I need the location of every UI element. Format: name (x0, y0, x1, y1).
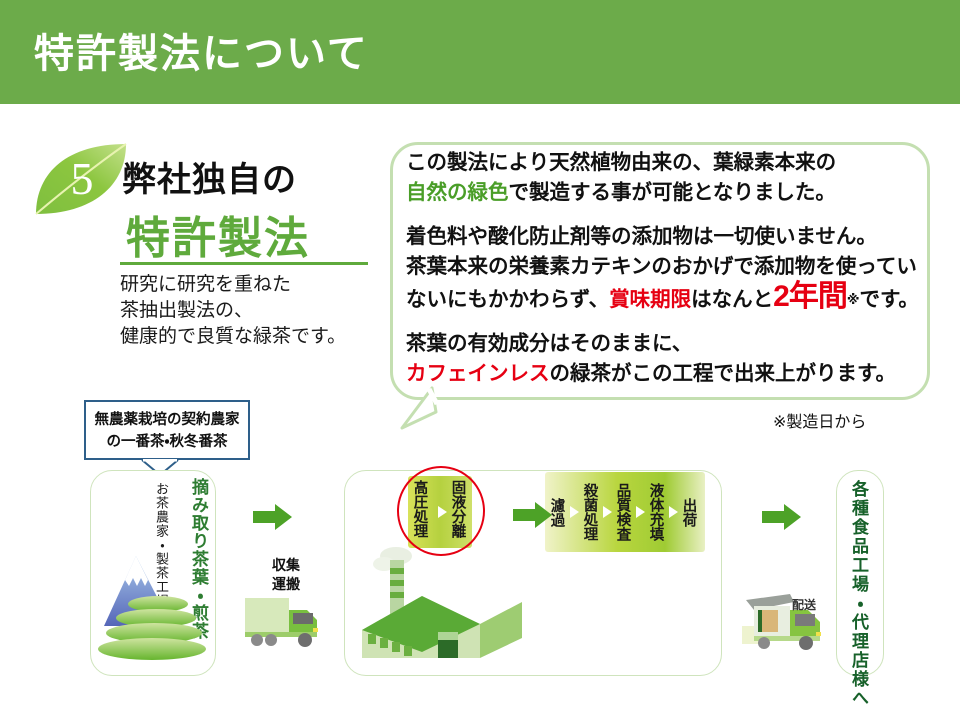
desc-p2-highlight-two-years: 2年間 (773, 280, 847, 313)
destination-label: 各種食品工場・代理店様へ (846, 480, 871, 708)
headline-line-2: 特許製法 (126, 202, 310, 266)
bubble-tail (396, 386, 440, 430)
farm-callout-line-1: 無農薬栽培の契約農家 (86, 409, 248, 431)
description-paragraph-3: 茶葉の有効成分はそのままに、 カフェインレスの緑茶がこの工程で出来上がります。 (406, 329, 926, 389)
desc-p2-line-3-c: です。 (859, 288, 918, 311)
process-step-sterilization: 殺菌処理 (582, 483, 597, 541)
collection-truck-illustration (243, 588, 329, 656)
flow-arrow-3-icon (762, 502, 802, 532)
headline-line-1: 弊社独自の (122, 152, 297, 201)
page-title: 特許製法について (34, 34, 369, 74)
leaf-badge-number: 5 (60, 148, 104, 210)
factory-illustration (352, 538, 532, 670)
transport-label-line-1: 収集 (272, 556, 300, 575)
mount-fuji-tea-field-illustration (96, 548, 212, 668)
process-triangle-4-icon (636, 506, 645, 518)
process-triangle-5-icon (669, 506, 678, 518)
desc-p2-highlight-expiry: 賞味期限 (609, 288, 691, 311)
desc-p1-highlight-green: 自然の緑色 (406, 181, 509, 204)
desc-p2-line-2: 茶葉本来の栄養素カテキンのおかげで添加物を使ってい (406, 255, 917, 278)
leaf-badge: 5 (34, 142, 130, 218)
headline-subtitle: 研究に研究を重ねた 茶抽出製法の、 健康的で良質な緑茶です。 (120, 272, 346, 350)
process-triangle-3-icon (603, 506, 612, 518)
headline-subtitle-line-3: 健康的で良質な緑茶です。 (120, 324, 346, 350)
desc-p3-line-2: の緑茶がこの工程で出来上がります。 (550, 362, 896, 385)
delivery-truck-illustration (740, 580, 832, 656)
headline-divider (120, 262, 368, 265)
desc-p2-line-3-b: はなんと (691, 288, 773, 311)
process-step-shipping: 出荷 (681, 498, 696, 527)
desc-p3-highlight-caffeineless: カフェインレス (406, 362, 550, 385)
desc-p3-line-1: 茶葉の有効成分はそのままに、 (406, 332, 692, 355)
desc-p2-line-3-a: ないにもかかわらず、 (406, 288, 609, 311)
process-triangle-2-icon (570, 506, 579, 518)
process-step-quality-check: 品質検査 (615, 483, 630, 541)
footnote-manufacture-date: ※製造日から (773, 408, 866, 432)
delivery-label: 配送 (792, 596, 816, 613)
desc-p2-asterisk: ※ (847, 292, 860, 307)
flow-arrow-1-icon (253, 502, 293, 532)
process-step-liquid-filling: 液体充填 (648, 483, 663, 541)
desc-p2-line-1: 着色料や酸化防止剤等の添加物は一切使いません。 (406, 225, 877, 248)
farm-callout: 無農薬栽培の契約農家 の一番茶・秋冬番茶 (84, 400, 250, 460)
desc-p1-part-a: この製法により天然植物由来の、葉緑素本来の (406, 151, 836, 174)
description-paragraph-2: 着色料や酸化防止剤等の添加物は一切使いません。 茶葉本来の栄養素カテキンのおかげ… (406, 222, 926, 315)
headline-subtitle-line-2: 茶抽出製法の、 (120, 298, 346, 324)
headline-subtitle-line-1: 研究に研究を重ねた (120, 272, 346, 298)
farm-callout-line-2: の一番茶・秋冬番茶 (86, 431, 248, 453)
description-paragraph-1: この製法により天然植物由来の、葉緑素本来の 自然の緑色で製造する事が可能となりま… (406, 148, 926, 208)
flow-arrow-2-icon (513, 500, 553, 530)
description-text: この製法により天然植物由来の、葉緑素本来の 自然の緑色で製造する事が可能となりま… (406, 148, 926, 389)
desc-p1-part-b: で製造する事が可能となりました。 (509, 181, 836, 204)
